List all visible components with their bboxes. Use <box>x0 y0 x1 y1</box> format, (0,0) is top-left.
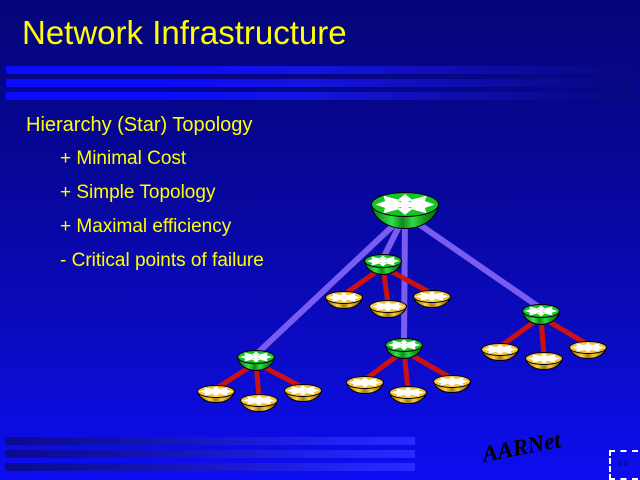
router-node-dist-1[interactable] <box>364 254 402 276</box>
hub-node-hub-1c[interactable] <box>413 290 451 310</box>
hub-node-hub-1a[interactable] <box>325 291 363 311</box>
router-arrows-icon <box>237 350 275 364</box>
decorative-bar <box>5 463 415 471</box>
svg-text:AARNet: AARNet <box>482 434 562 467</box>
hub-arrows-icon <box>413 290 451 303</box>
hub-node-hub-4b[interactable] <box>525 352 563 372</box>
hub-node-hub-4c[interactable] <box>569 341 607 361</box>
router-arrows-icon <box>385 338 423 352</box>
hub-node-hub-2a[interactable] <box>197 385 235 405</box>
hub-arrows-icon <box>346 376 384 389</box>
network-topology-diagram <box>0 0 640 480</box>
aarnet-logo: AARNet <box>482 434 562 472</box>
hub-arrows-icon <box>569 341 607 354</box>
router-node-dist-3[interactable] <box>385 338 423 360</box>
hub-node-hub-1b[interactable] <box>369 300 407 320</box>
hub-node-hub-4a[interactable] <box>481 343 519 363</box>
decorative-bar <box>5 450 415 458</box>
hub-node-hub-2c[interactable] <box>284 384 322 404</box>
slide-number-box: xx <box>609 450 638 480</box>
hub-arrows-icon <box>369 300 407 313</box>
hub-arrows-icon <box>197 385 235 398</box>
router-arrows-icon <box>522 304 560 318</box>
hub-arrows-icon <box>481 343 519 356</box>
hub-node-hub-3a[interactable] <box>346 376 384 396</box>
router-arrows-icon <box>371 192 439 217</box>
hub-node-hub-3c[interactable] <box>433 375 471 395</box>
hub-arrows-icon <box>389 386 427 399</box>
hub-arrows-icon <box>284 384 322 397</box>
hub-node-hub-2b[interactable] <box>240 394 278 414</box>
router-node-core[interactable] <box>371 192 439 231</box>
network-links-layer <box>0 0 640 480</box>
hub-arrows-icon <box>525 352 563 365</box>
network-link-core <box>256 215 405 355</box>
router-node-dist-4[interactable] <box>522 304 560 326</box>
hub-arrows-icon <box>325 291 363 304</box>
router-arrows-icon <box>364 254 402 268</box>
slide-canvas: Network Infrastructure Hierarchy (Star) … <box>0 0 640 480</box>
router-node-dist-2[interactable] <box>237 350 275 372</box>
hub-arrows-icon <box>433 375 471 388</box>
decorative-bar <box>5 437 415 445</box>
slide-number: xx <box>619 459 629 468</box>
hub-node-hub-3b[interactable] <box>389 386 427 406</box>
decorative-bars-bottom <box>5 437 415 476</box>
hub-arrows-icon <box>240 394 278 407</box>
